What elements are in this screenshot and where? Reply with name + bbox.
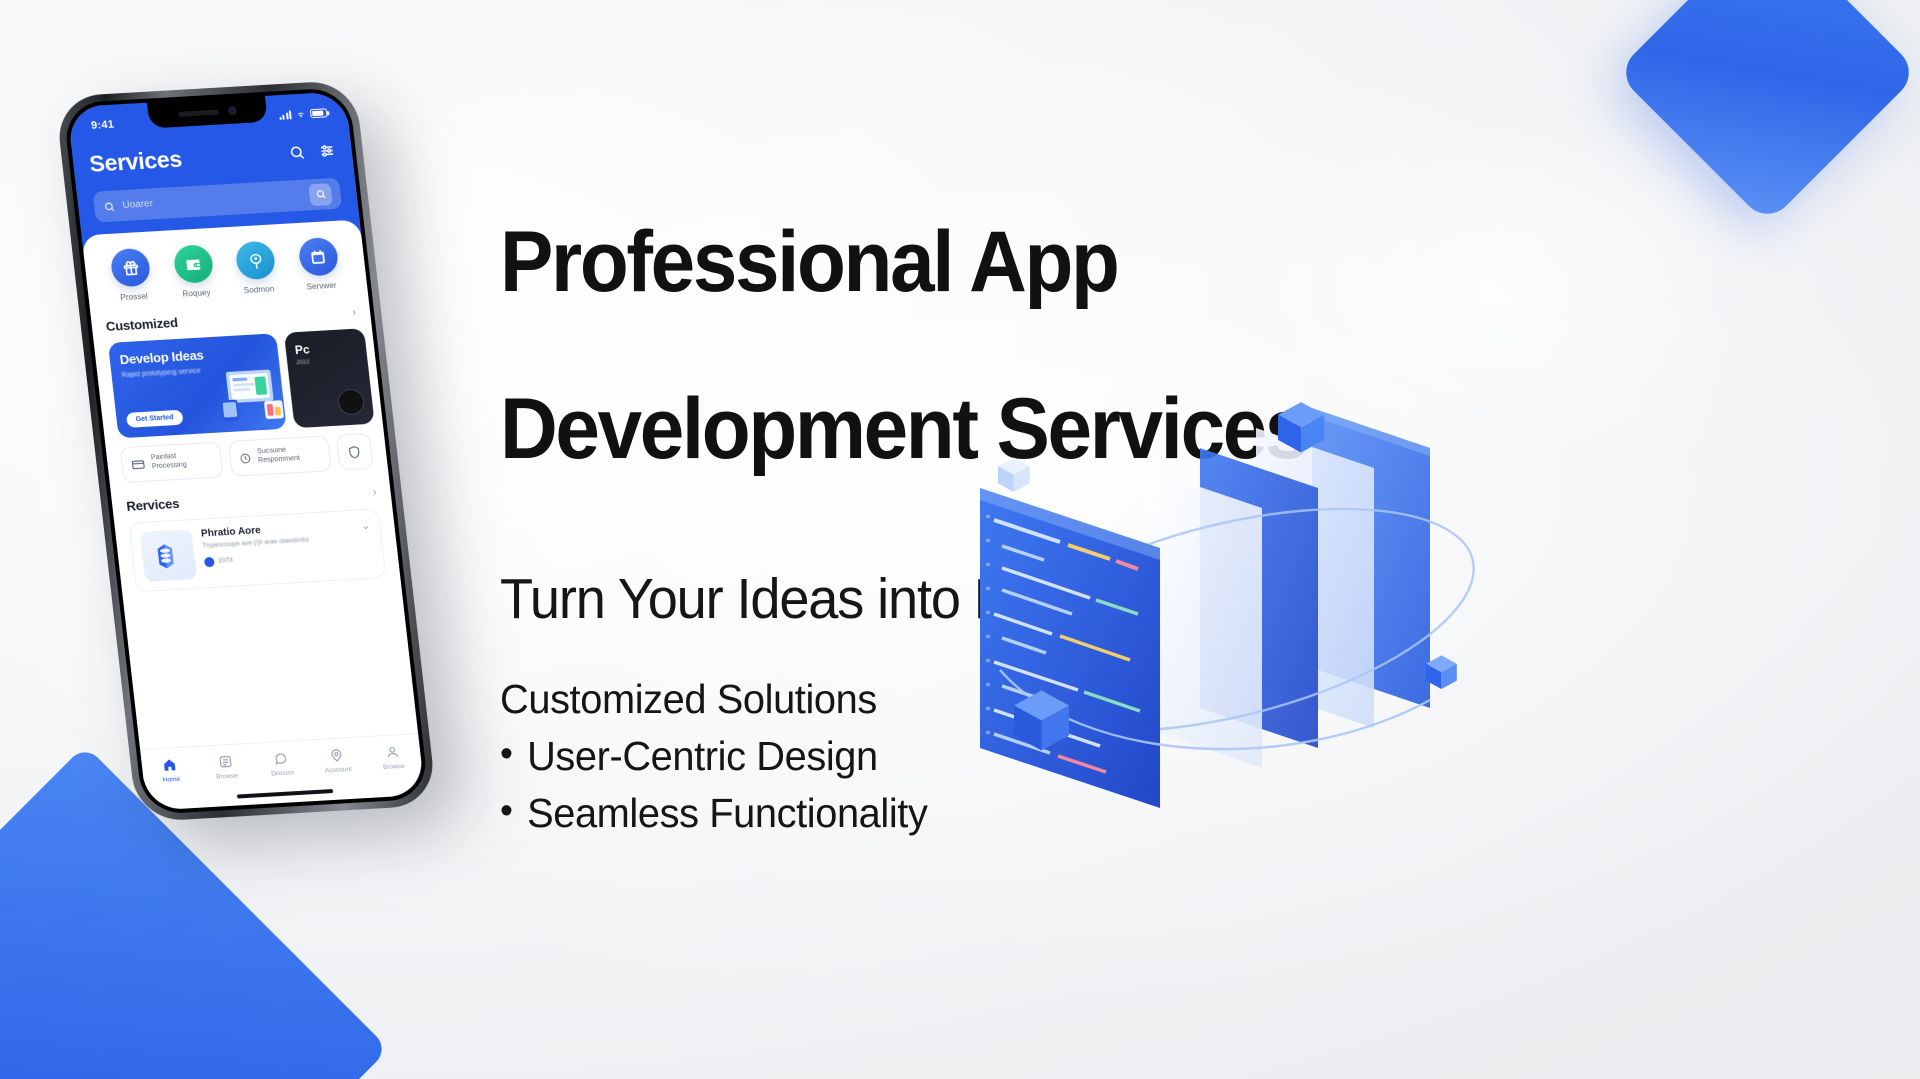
location-pin-icon xyxy=(204,557,215,568)
clock-icon xyxy=(238,450,253,466)
status-icons xyxy=(278,107,328,121)
promo-cta-button[interactable]: Get Started xyxy=(126,410,183,428)
bullet-marker-icon: • xyxy=(500,785,513,839)
iso-svg xyxy=(960,370,1560,840)
benefit-label: User-Centric Design xyxy=(527,728,878,785)
gift-icon xyxy=(110,248,152,288)
phone-bezel: 9:41 Services xyxy=(62,87,429,815)
feature-tile-label: Painfast Processing xyxy=(151,451,214,472)
search-icon xyxy=(314,188,326,200)
quick-action-label: Servwer xyxy=(306,281,337,292)
quick-action-label: Roquey xyxy=(182,288,211,299)
tab-label: Discuss xyxy=(271,769,295,777)
chevron-down-icon[interactable]: ⌄ xyxy=(360,519,371,532)
wallet-icon xyxy=(172,244,214,284)
tab-profile[interactable]: Browse xyxy=(364,743,423,772)
quick-action-calendar[interactable]: Servwer xyxy=(285,236,353,292)
earpiece-speaker-icon xyxy=(178,109,219,116)
person-icon xyxy=(384,744,401,760)
status-time: 9:41 xyxy=(91,119,115,132)
database-icon xyxy=(149,538,187,574)
promo-dark-subtitle: 2022 xyxy=(296,357,359,367)
promo-dark-title: Pc xyxy=(294,340,358,357)
promo-dark-orb-icon xyxy=(337,388,366,415)
plant-icon xyxy=(235,240,277,280)
service-details: Phratio Aore Trypescoupe ave [/]/i arae … xyxy=(200,520,355,567)
promo-illustration xyxy=(209,359,287,429)
section-title: Rervices xyxy=(126,496,180,514)
feature-tile-support[interactable]: Sucsuine Respomment xyxy=(228,435,332,477)
tab-label: Acocount xyxy=(324,766,352,775)
quick-action-label: Prossel xyxy=(120,292,148,303)
filter-icon[interactable] xyxy=(318,142,337,160)
service-list-item[interactable]: Phratio Aore Trypescoupe ave [/]/i arae … xyxy=(128,508,386,592)
header-actions xyxy=(288,142,337,162)
app-content-sheet: Prossel Roquey xyxy=(82,219,426,810)
card-icon xyxy=(130,456,147,472)
search-icon[interactable] xyxy=(288,144,307,162)
chat-icon xyxy=(273,751,290,767)
cube-right xyxy=(1426,655,1457,689)
shield-icon xyxy=(346,444,363,460)
feature-tile-payment[interactable]: Painfast Processing xyxy=(120,442,224,484)
calendar-icon xyxy=(297,237,339,277)
quick-action-wallet[interactable]: Roquey xyxy=(160,243,228,299)
promo-card-develop-ideas[interactable]: Develop Ideas Rapid prototyping service … xyxy=(108,333,287,438)
list-icon xyxy=(217,754,234,770)
tab-home[interactable]: Home xyxy=(141,756,200,785)
quick-action-label: Sodmon xyxy=(243,284,274,295)
promo-row: Develop Ideas Rapid prototyping service … xyxy=(108,329,369,439)
battery-icon xyxy=(310,108,328,118)
benefit-label: Seamless Functionality xyxy=(527,785,927,842)
promo-card-secondary[interactable]: Pc 2022 xyxy=(284,328,375,428)
search-input[interactable]: Uoarer xyxy=(93,178,342,223)
tab-label: Home xyxy=(162,776,180,784)
home-icon xyxy=(161,757,178,773)
wifi-icon xyxy=(295,108,307,120)
tab-account[interactable]: Acocount xyxy=(308,746,367,775)
front-camera-icon xyxy=(228,107,237,115)
code-panel-front xyxy=(980,488,1160,808)
bullet-marker-icon: • xyxy=(500,728,513,782)
quick-action-plant[interactable]: Sodmon xyxy=(222,240,290,296)
feature-tile-label: Sucsuine Respomment xyxy=(257,445,322,466)
hero-banner: 9:41 Services xyxy=(0,0,1920,1079)
quick-action-gift[interactable]: Prossel xyxy=(97,247,165,303)
chevron-right-icon[interactable]: › xyxy=(372,486,377,498)
isometric-code-stack-illustration xyxy=(960,370,1560,840)
location-icon xyxy=(328,747,345,763)
tab-label: Browse xyxy=(216,773,238,781)
decorative-diamond-top-right xyxy=(1615,0,1919,225)
home-indicator xyxy=(237,789,333,799)
phone-screen: 9:41 Services xyxy=(67,91,425,810)
app-title-row: Services xyxy=(88,137,337,178)
section-header-services: Rervices › xyxy=(126,485,378,514)
feature-tiles: Painfast Processing Sucsuine Respomment xyxy=(120,433,374,483)
search-icon xyxy=(103,200,116,213)
app-title: Services xyxy=(88,146,183,178)
search-placeholder: Uoarer xyxy=(122,198,154,211)
feature-tile-security[interactable] xyxy=(336,433,374,471)
section-title: Customized xyxy=(105,315,178,334)
headline-line-1: Professional App xyxy=(500,221,1356,304)
service-meta: 1073 xyxy=(204,549,356,568)
section-header-customized: Customized › xyxy=(105,305,357,334)
chevron-right-icon[interactable]: › xyxy=(352,306,357,318)
tab-label: Browse xyxy=(383,763,405,771)
quick-actions-row: Prossel Roquey xyxy=(97,236,353,303)
tab-discuss[interactable]: Discuss xyxy=(252,749,311,778)
phone-frame: 9:41 Services xyxy=(55,80,438,823)
tab-browse[interactable]: Browse xyxy=(197,753,256,782)
service-price: 1073 xyxy=(218,557,233,565)
service-thumbnail xyxy=(140,529,198,582)
signal-bars-icon xyxy=(278,110,292,120)
search-submit-button[interactable] xyxy=(308,183,332,206)
cube-left xyxy=(998,457,1030,492)
phone-mockup: 9:41 Services xyxy=(55,80,438,823)
